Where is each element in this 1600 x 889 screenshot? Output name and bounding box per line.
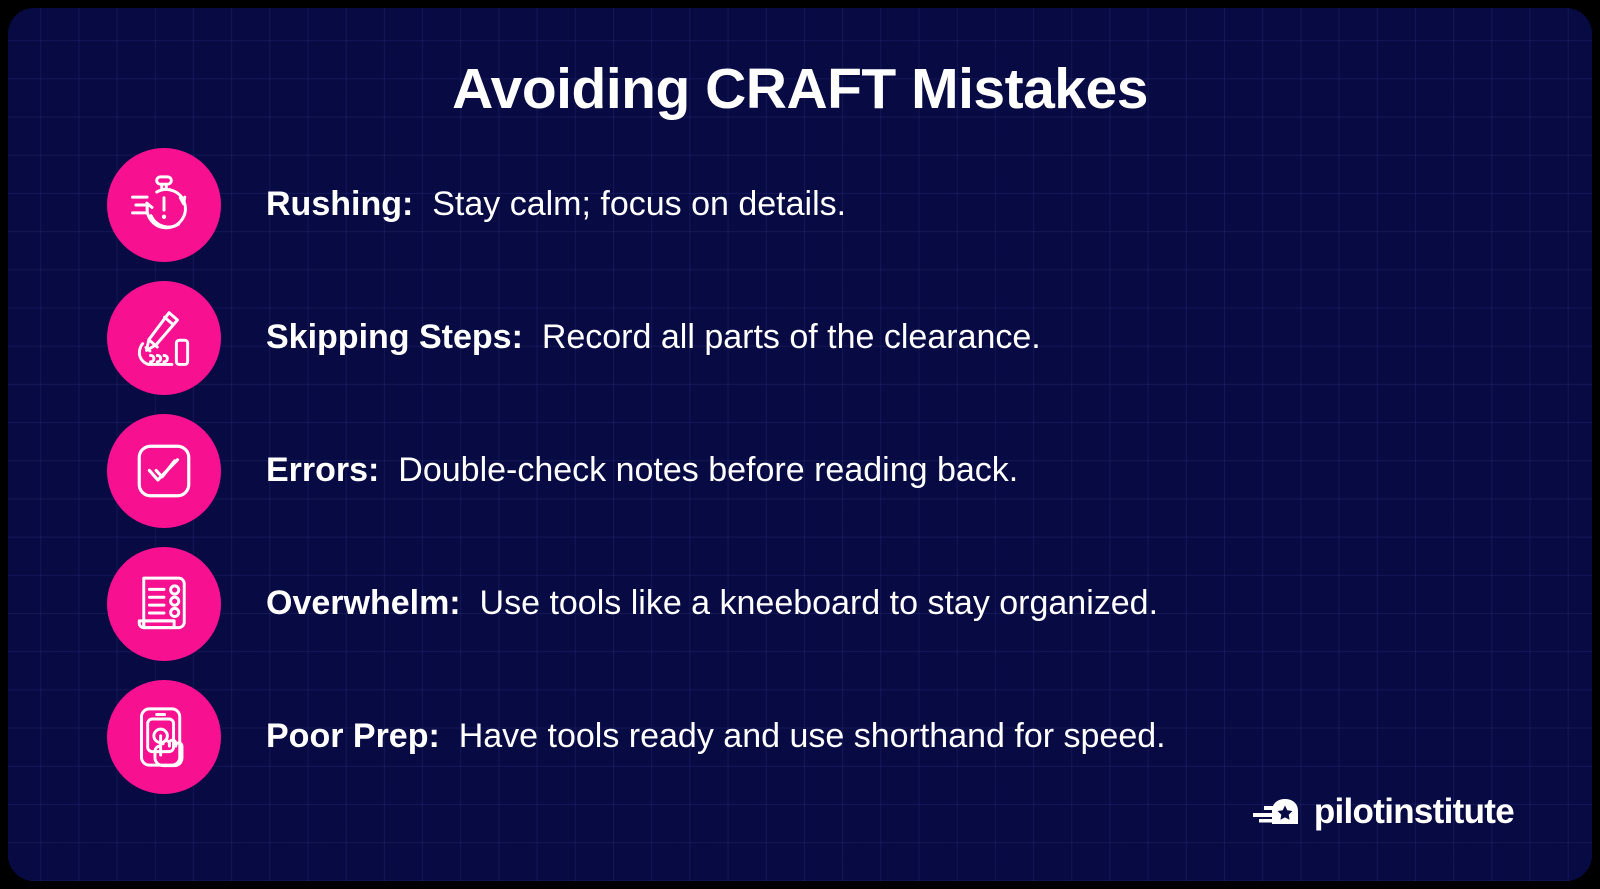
list-item: Poor Prep: Have tools ready and use shor… [8,670,1592,803]
list-item-text: Rushing: Stay calm; focus on details. [266,183,1552,226]
winged-star-badge-icon [1251,793,1303,829]
list-item-text: Poor Prep: Have tools ready and use shor… [266,715,1552,758]
list-item-text: Skipping Steps: Record all parts of the … [266,316,1552,359]
checkbox-double-check-icon [128,435,200,507]
list-item-description: Double-check notes before reading back. [398,451,1018,489]
page-title: Avoiding CRAFT Mistakes [8,58,1592,121]
list-item: Skipping Steps: Record all parts of the … [8,271,1592,404]
hand-writing-pencil-icon [128,302,200,374]
list-item-description: Stay calm; focus on details. [432,185,846,223]
list-item-label: Poor Prep: [266,717,449,755]
brand-logo: pilotinstitute [1251,793,1514,829]
checklist-notepad-icon [128,568,200,640]
stopwatch-speed-icon [128,169,200,241]
list-item-label: Overwhelm: [266,584,470,622]
list-item: Errors: Double-check notes before readin… [8,404,1592,537]
icon-badge [107,414,221,528]
icon-badge [107,547,221,661]
list-item-label: Errors: [266,451,389,489]
list-item-description: Record all parts of the clearance. [542,318,1041,356]
list-item-description: Use tools like a kneeboard to stay organ… [480,584,1159,622]
infographic-card: Avoiding CRAFT Mistakes Rushing: [8,8,1592,881]
tips-list: Rushing: Stay calm; focus on details. [8,138,1592,803]
list-item-text: Errors: Double-check notes before readin… [266,449,1552,492]
list-item-label: Skipping Steps: [266,318,532,356]
list-item-description: Have tools ready and use shorthand for s… [459,717,1166,755]
icon-badge [107,680,221,794]
brand-wordmark: pilotinstitute [1314,794,1514,829]
icon-badge [107,281,221,395]
list-item: Overwhelm: Use tools like a kneeboard to… [8,537,1592,670]
icon-badge [107,148,221,262]
smartphone-tap-hand-icon [128,701,200,773]
list-item-text: Overwhelm: Use tools like a kneeboard to… [266,582,1552,625]
list-item: Rushing: Stay calm; focus on details. [8,138,1592,271]
list-item-label: Rushing: [266,185,423,223]
